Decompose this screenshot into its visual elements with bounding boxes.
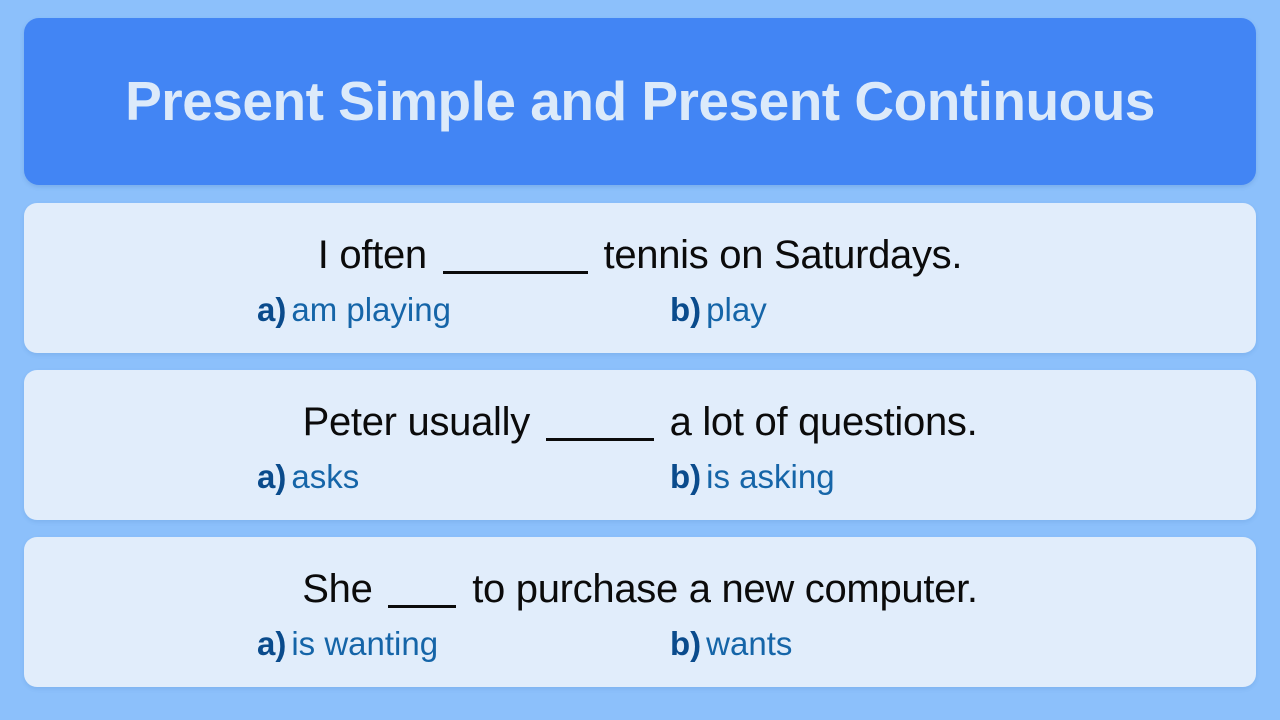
- option-b-label: play: [706, 291, 767, 328]
- option-a[interactable]: a)am playing: [256, 292, 670, 328]
- answer-blank[interactable]: [443, 271, 588, 274]
- question-card: Peter usually a lot of questions. a)asks…: [24, 370, 1256, 520]
- question-text-before: Peter usually: [303, 400, 530, 444]
- question-sentence: Peter usually a lot of questions.: [24, 400, 1256, 445]
- question-text-before: She: [302, 567, 372, 611]
- option-a-label: is wanting: [291, 625, 438, 662]
- option-a-label: am playing: [291, 291, 451, 328]
- option-a-letter: a): [257, 458, 286, 495]
- option-row: a)asks b)is asking: [24, 459, 1256, 495]
- question-sentence: She to purchase a new computer.: [24, 567, 1256, 612]
- option-b-letter: b): [670, 458, 701, 495]
- option-b[interactable]: b)wants: [670, 626, 1030, 662]
- question-sentence: I often tennis on Saturdays.: [24, 233, 1256, 278]
- option-b[interactable]: b)is asking: [670, 459, 1030, 495]
- option-a-letter: a): [257, 625, 286, 662]
- option-b[interactable]: b)play: [670, 292, 1030, 328]
- option-b-letter: b): [670, 625, 701, 662]
- quiz-slide: Present Simple and Present Continuous I …: [0, 0, 1280, 720]
- question-text-after: tennis on Saturdays.: [604, 233, 963, 277]
- question-text-after: to purchase a new computer.: [472, 567, 978, 611]
- question-card: She to purchase a new computer. a)is wan…: [24, 537, 1256, 687]
- title-banner: Present Simple and Present Continuous: [24, 18, 1256, 185]
- option-a-letter: a): [257, 291, 286, 328]
- question-text-after: a lot of questions.: [670, 400, 978, 444]
- option-b-label: wants: [706, 625, 792, 662]
- question-text-before: I often: [318, 233, 427, 277]
- page-title: Present Simple and Present Continuous: [125, 74, 1155, 129]
- option-a[interactable]: a)asks: [256, 459, 670, 495]
- option-row: a)is wanting b)wants: [24, 626, 1256, 662]
- option-b-label: is asking: [706, 458, 834, 495]
- option-a-label: asks: [291, 458, 359, 495]
- option-row: a)am playing b)play: [24, 292, 1256, 328]
- option-a[interactable]: a)is wanting: [256, 626, 670, 662]
- option-b-letter: b): [670, 291, 701, 328]
- answer-blank[interactable]: [388, 605, 456, 608]
- answer-blank[interactable]: [546, 438, 654, 441]
- question-list: I often tennis on Saturdays. a)am playin…: [24, 203, 1256, 687]
- question-card: I often tennis on Saturdays. a)am playin…: [24, 203, 1256, 353]
